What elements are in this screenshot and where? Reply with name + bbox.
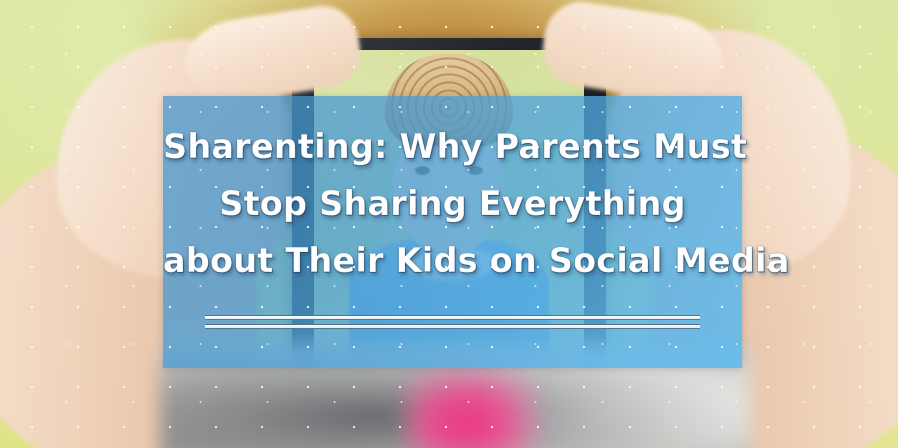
- banner-title: Sharenting: Why Parents Must Stop Sharin…: [163, 118, 742, 289]
- divider-rule-bottom: [205, 324, 700, 329]
- title-banner: Sharenting: Why Parents Must Stop Sharin…: [163, 96, 742, 368]
- poster-image: Sharenting: Why Parents Must Stop Sharin…: [0, 0, 898, 448]
- pink-bow-blur: [405, 366, 540, 448]
- title-line-2: Stop Sharing Everything: [163, 175, 742, 232]
- title-line-3: about Their Kids on Social Media: [163, 232, 742, 289]
- title-line-1: Sharenting: Why Parents Must: [163, 118, 742, 175]
- title-divider: [205, 315, 700, 329]
- divider-rule-top: [205, 315, 700, 320]
